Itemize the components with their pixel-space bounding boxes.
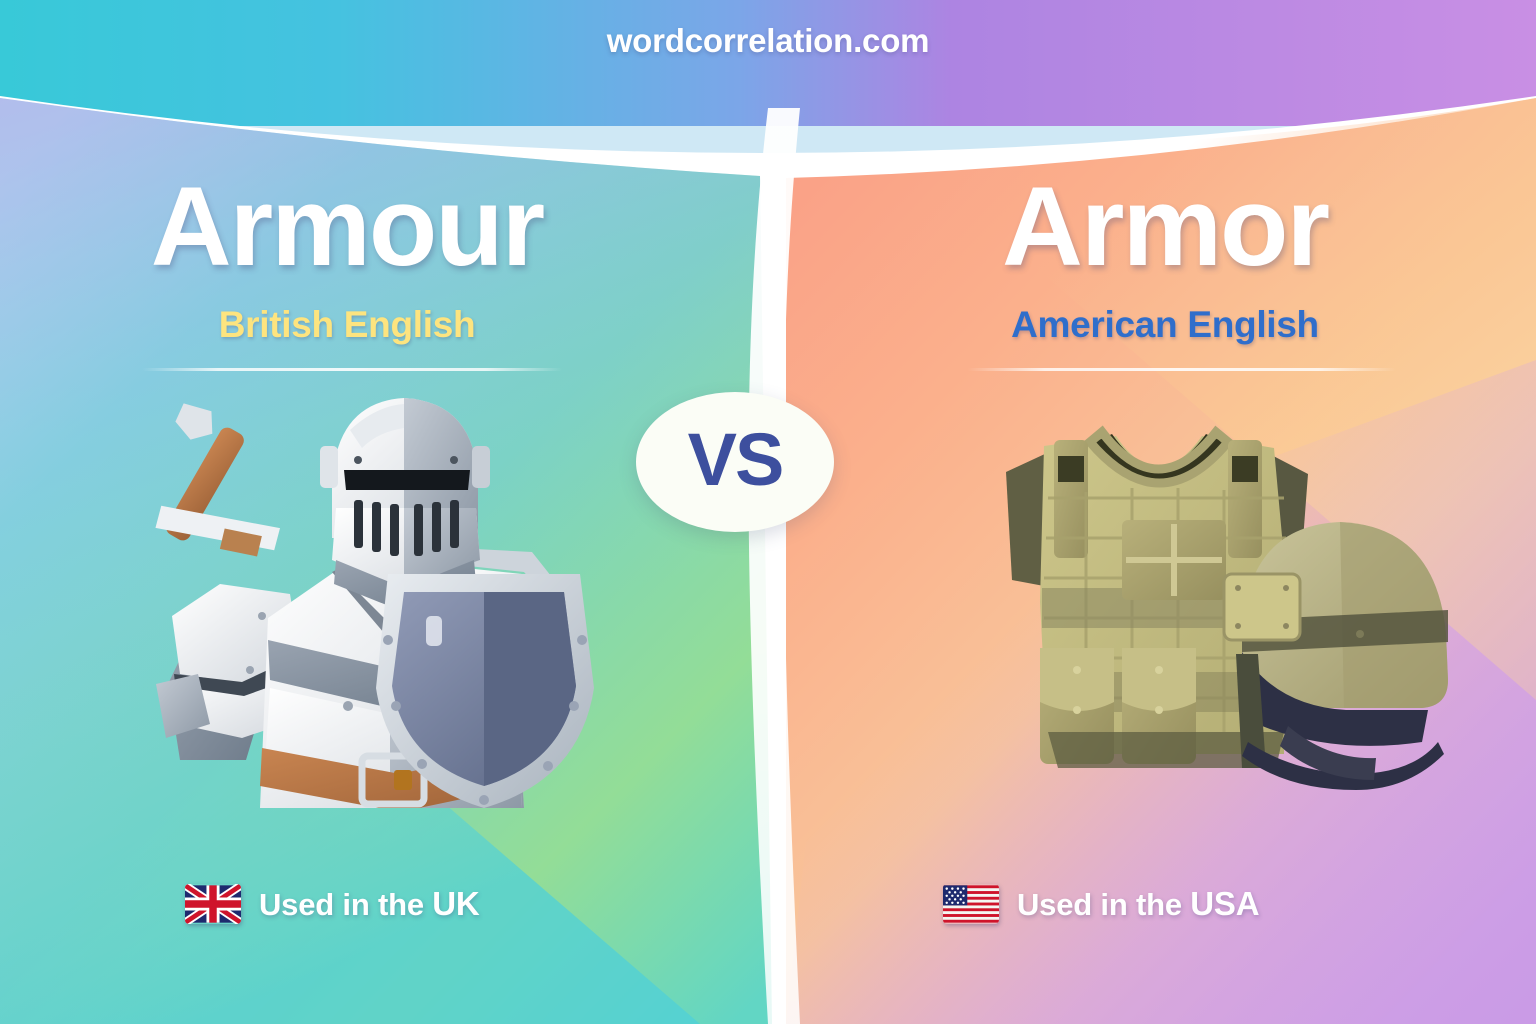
uk-flag <box>185 884 241 924</box>
knight-armour-illustration <box>150 388 650 808</box>
left-used-country: UK <box>432 885 479 922</box>
left-divider-rule <box>142 368 562 371</box>
left-panel-british: Armour British English <box>0 120 768 1024</box>
helmet-rail-mount <box>1224 574 1300 640</box>
right-variant-label: American English <box>768 304 1536 346</box>
comparison-infographic: wordcorrelation.com Armour British Engli… <box>0 0 1536 1024</box>
sword-icon <box>150 397 285 585</box>
right-used-in-row: Used in the USA <box>943 884 1259 924</box>
left-word-armour: Armour <box>0 168 768 286</box>
right-word-armor: Armor <box>768 168 1536 286</box>
vs-label: VS <box>688 423 783 497</box>
right-used-country: USA <box>1190 885 1259 922</box>
right-used-prefix: Used in the <box>1017 887 1190 922</box>
right-divider-rule <box>968 368 1396 371</box>
left-used-in-row: Used in the UK <box>185 884 480 924</box>
left-used-prefix: Used in the <box>259 887 432 922</box>
tactical-body-armor-illustration <box>936 402 1456 802</box>
usa-flag <box>943 884 999 924</box>
right-panel-american: Armor American English <box>768 120 1536 1024</box>
right-used-in-label: Used in the USA <box>1017 885 1259 923</box>
site-title: wordcorrelation.com <box>0 22 1536 60</box>
vs-badge: VS <box>636 392 834 532</box>
left-variant-label: British English <box>0 304 768 346</box>
left-used-in-label: Used in the UK <box>259 885 480 923</box>
